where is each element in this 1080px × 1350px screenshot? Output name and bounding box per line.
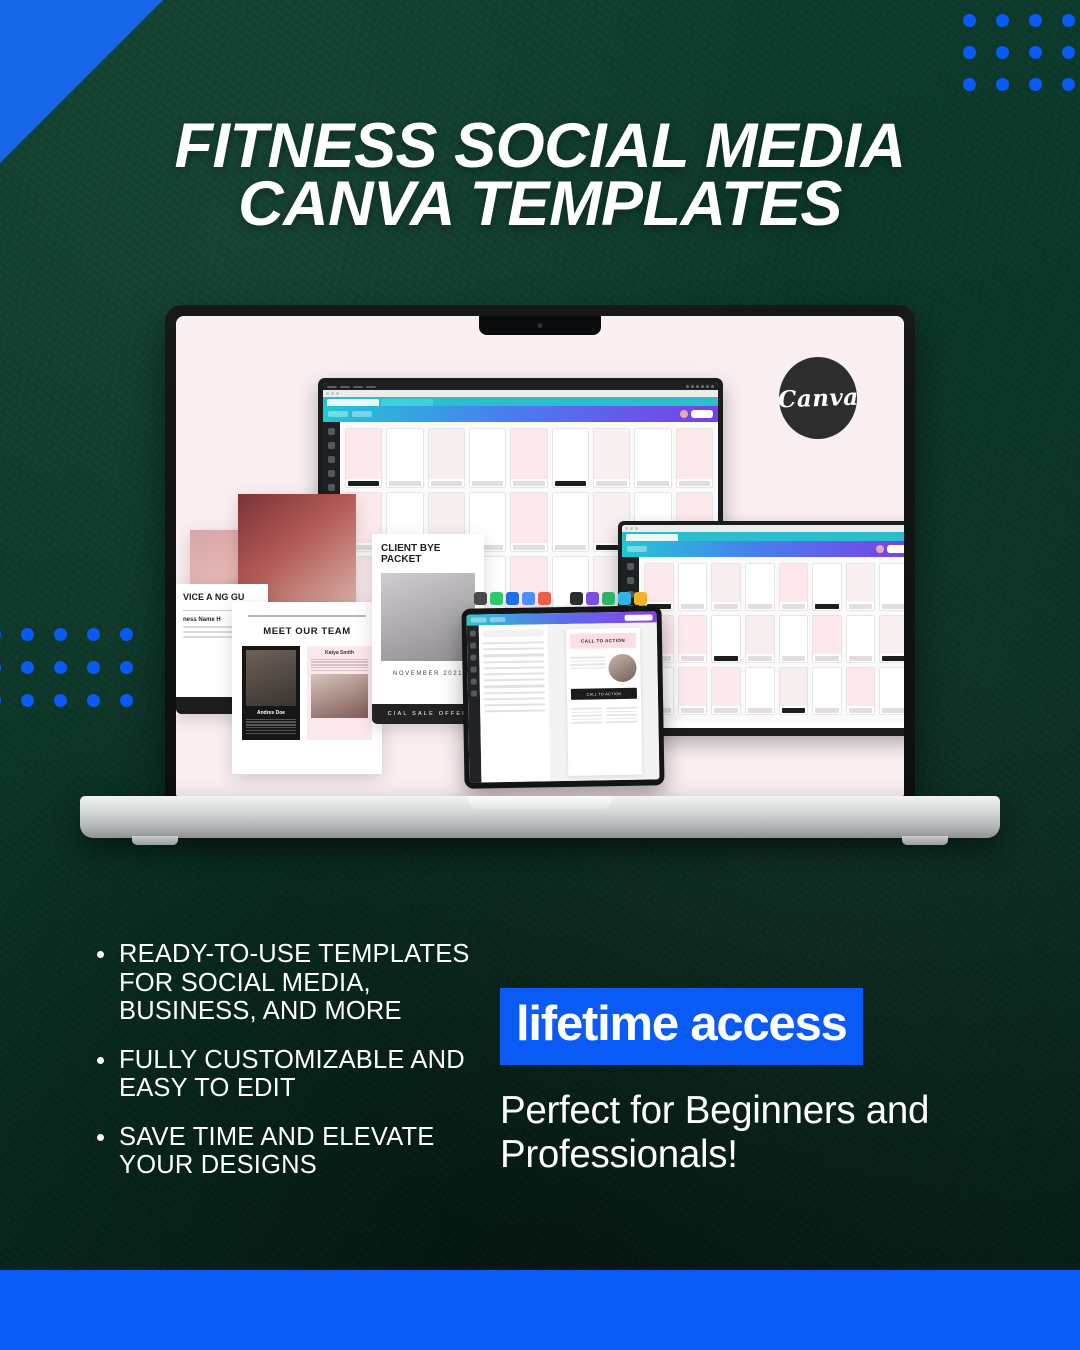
- avatar: [876, 545, 884, 553]
- lifetime-access-badge: lifetime access: [500, 988, 863, 1065]
- share-button[interactable]: [691, 410, 713, 418]
- screen-scene: Canva: [176, 316, 904, 796]
- template-thumbnail[interactable]: [386, 428, 423, 488]
- design-cta-button: CALL TO ACTION: [571, 688, 637, 700]
- dock-app-icon[interactable]: [522, 592, 535, 605]
- decorative-dot: [54, 661, 67, 674]
- laptop-screen: Canva: [176, 316, 904, 796]
- team-card-light: Katya Smith: [307, 646, 372, 740]
- canva-canvas: CALL TO ACTION CALL TO ACTION: [549, 622, 660, 781]
- decorative-dot: [963, 78, 976, 91]
- decorative-dot: [996, 14, 1009, 27]
- share-button[interactable]: [625, 614, 653, 620]
- template-thumbnail[interactable]: [678, 615, 708, 663]
- offer-block: lifetime access Perfect for Beginners an…: [500, 988, 930, 1176]
- decorative-dot: [0, 628, 1, 641]
- template-thumbnail[interactable]: [812, 563, 842, 611]
- template-thumbnail[interactable]: [846, 667, 876, 715]
- offer-subtitle: Perfect for Beginners and Professionals!: [500, 1089, 930, 1176]
- template-thumbnail[interactable]: [779, 563, 809, 611]
- template-thumbnail[interactable]: [676, 428, 713, 488]
- template-thumbnail[interactable]: [711, 667, 741, 715]
- template-thumbnail[interactable]: [510, 428, 547, 488]
- page-title-line-2: CANVA TEMPLATES: [0, 176, 1080, 234]
- browser-chrome: [622, 525, 904, 532]
- tablet-screen: CALL TO ACTION CALL TO ACTION: [467, 611, 660, 782]
- avatar: [680, 410, 688, 418]
- dock-app-icon[interactable]: [474, 592, 487, 605]
- design-page: CALL TO ACTION CALL TO ACTION: [566, 628, 643, 776]
- feature-list: READY-TO-USE TEMPLATES FOR SOCIAL MEDIA,…: [88, 940, 488, 1200]
- decorative-dot: [1062, 14, 1075, 27]
- dock-app-icon[interactable]: [634, 592, 647, 605]
- template-thumbnail[interactable]: [552, 492, 589, 552]
- template-thumbnail[interactable]: [593, 428, 630, 488]
- list-item: READY-TO-USE TEMPLATES FOR SOCIAL MEDIA,…: [88, 940, 488, 1026]
- template-thumbnail[interactable]: [879, 667, 904, 715]
- decorative-dot: [996, 78, 1009, 91]
- packet-title: CLIENT BYE PACKET: [381, 543, 475, 565]
- team-photo: [246, 650, 296, 706]
- laptop-foot: [132, 836, 178, 845]
- tablet-mockup: CALL TO ACTION CALL TO ACTION: [461, 605, 664, 788]
- template-thumbnail[interactable]: [812, 667, 842, 715]
- dock-app-icon[interactable]: [554, 592, 567, 605]
- template-grid: [639, 557, 904, 721]
- dock-app-icon[interactable]: [586, 592, 599, 605]
- bottom-accent-bar: [0, 1270, 1080, 1350]
- canva-logo-badge: Canva: [779, 357, 857, 439]
- template-thumbnail[interactable]: [779, 667, 809, 715]
- dock-app-icon[interactable]: [490, 592, 503, 605]
- decorative-dot: [1029, 14, 1042, 27]
- team-card-dark: Andres Doe: [242, 646, 300, 740]
- decorative-dot: [963, 46, 976, 59]
- decorative-dot: [963, 14, 976, 27]
- laptop-base-notch: [468, 796, 612, 809]
- decorative-dot: [54, 694, 67, 707]
- browser-tab-bar: [622, 532, 904, 541]
- decorative-dot: [1062, 46, 1075, 59]
- canva-logo-label: Canva: [777, 383, 859, 413]
- browser-tab[interactable]: [626, 534, 678, 541]
- team-member-name: Katya Smith: [311, 650, 368, 656]
- browser-tab[interactable]: [327, 399, 379, 406]
- template-thumbnail[interactable]: [345, 428, 382, 488]
- template-thumbnail[interactable]: [469, 428, 506, 488]
- decorative-dot: [1029, 78, 1042, 91]
- share-button[interactable]: [887, 545, 904, 553]
- browser-window-secondary: [622, 525, 904, 728]
- packet-date: NOVEMBER 2021: [381, 671, 475, 677]
- dock-app-icon[interactable]: [602, 592, 615, 605]
- template-thumbnail[interactable]: [745, 563, 775, 611]
- decorative-dot: [21, 694, 34, 707]
- template-thumbnail[interactable]: [779, 615, 809, 663]
- template-thumbnail[interactable]: [678, 667, 708, 715]
- laptop-lid: Canva: [165, 305, 915, 810]
- decorative-dot: [0, 661, 1, 674]
- template-thumbnail[interactable]: [879, 563, 904, 611]
- laptop-mockup: Canva: [80, 305, 1000, 860]
- browser-tab-bar: [323, 397, 718, 406]
- canva-toolbar: [622, 541, 904, 557]
- list-item: FULLY CUSTOMIZABLE AND EASY TO EDIT: [88, 1046, 488, 1103]
- decorative-dot: [21, 661, 34, 674]
- webcam-notch: [479, 316, 601, 335]
- template-thumbnail[interactable]: [879, 615, 904, 663]
- template-thumbnail[interactable]: [644, 563, 674, 611]
- decorative-dot: [54, 628, 67, 641]
- canva-toolbar: [323, 406, 718, 422]
- mac-menu-bar: [323, 383, 718, 390]
- team-sheet-title: MEET OUR TEAM: [242, 626, 372, 637]
- macos-dock: [474, 592, 647, 605]
- laptop-base: [80, 796, 1000, 838]
- list-item: SAVE TIME AND ELEVATE YOUR DESIGNS: [88, 1123, 488, 1180]
- team-photo: [311, 674, 368, 718]
- dock-app-icon[interactable]: [570, 592, 583, 605]
- page-title: FITNESS SOCIAL MEDIA CANVA TEMPLATES: [0, 118, 1080, 234]
- template-thumbnail[interactable]: [846, 563, 876, 611]
- decorative-dot: [1062, 78, 1075, 91]
- template-thumbnail[interactable]: [745, 615, 775, 663]
- canva-text-panel: [479, 624, 552, 782]
- template-thumbnail[interactable]: [745, 667, 775, 715]
- laptop-foot: [902, 836, 948, 845]
- decorative-dot: [1029, 46, 1042, 59]
- template-thumbnail[interactable]: [711, 563, 741, 611]
- template-team-sheet: MEET OUR TEAM Andres Doe Katya Smith: [232, 602, 382, 774]
- dot-grid-top-right: [963, 14, 1080, 110]
- dock-app-icon[interactable]: [506, 592, 519, 605]
- team-member-name: Andres Doe: [246, 710, 296, 716]
- decorative-dot: [0, 694, 1, 707]
- template-thumbnail[interactable]: [846, 615, 876, 663]
- design-title: CALL TO ACTION: [570, 633, 636, 649]
- dock-app-icon[interactable]: [618, 592, 631, 605]
- canva-workspace: [622, 557, 904, 721]
- search-input[interactable]: [483, 629, 544, 637]
- dock-app-icon[interactable]: [538, 592, 551, 605]
- template-thumbnail[interactable]: [634, 428, 671, 488]
- guide-title: VICE A NG GU: [183, 592, 261, 602]
- template-thumbnail[interactable]: [510, 492, 547, 552]
- browser-chrome: [323, 390, 718, 397]
- decorative-dot: [996, 46, 1009, 59]
- template-thumbnail[interactable]: [711, 615, 741, 663]
- template-thumbnail[interactable]: [678, 563, 708, 611]
- template-thumbnail[interactable]: [428, 428, 465, 488]
- divider: [248, 615, 366, 617]
- decorative-dot: [21, 628, 34, 641]
- browser-tab[interactable]: [381, 399, 433, 406]
- template-thumbnail[interactable]: [552, 428, 589, 488]
- template-thumbnail[interactable]: [812, 615, 842, 663]
- design-photo: [608, 654, 636, 682]
